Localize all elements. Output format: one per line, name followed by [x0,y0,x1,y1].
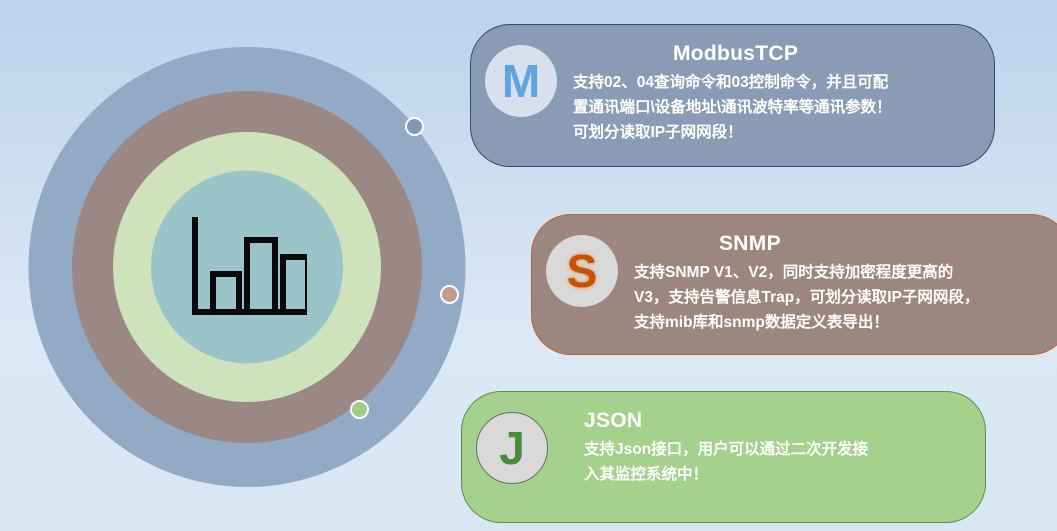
json-marker [350,400,369,419]
snmp-desc-line-3: 支持mib库和snmp数据定义表导出！ [634,310,979,335]
modbus-desc-line-3: 可划分读取IP子网网段！ [573,120,892,145]
snmp-badge-icon: S [546,235,618,307]
modbus-card-title: ModbusTCP [673,41,892,67]
modbus-marker [405,117,424,136]
modbus-desc-line-2: 置通讯端口\设备地址\通讯波特率等通讯参数！ [573,95,892,120]
snmp-card-title: SNMP [719,231,979,257]
bar-chart-icon [187,212,307,322]
snmp-card-body: SNMP 支持SNMP V1、V2，同时支持加密程度更高的 V3，支持告警信息T… [634,229,979,336]
snmp-card-description: 支持SNMP V1、V2，同时支持加密程度更高的 V3，支持告警信息Trap，可… [634,260,979,335]
card-json[interactable]: J JSON 支持Json接口，用户可以通过二次开发接 入其监控系统中！ [461,391,986,523]
modbus-desc-line-1: 支持02、04查询命令和03控制命令，并且可配 [573,70,892,95]
json-card-body: JSON 支持Json接口，用户可以通过二次开发接 入其监控系统中！ [564,406,868,487]
concentric-rings-hub [28,32,465,502]
json-card-description: 支持Json接口，用户可以通过二次开发接 入其监控系统中！ [584,437,868,487]
card-modbustcp[interactable]: M ModbusTCP 支持02、04查询命令和03控制命令，并且可配 置通讯端… [470,24,995,167]
modbus-badge-icon: M [485,45,557,117]
json-card-title: JSON [584,408,868,434]
json-desc-line-2: 入其监控系统中！ [584,462,868,487]
snmp-marker [440,285,459,304]
json-badge-icon: J [476,412,548,484]
modbus-card-body: ModbusTCP 支持02、04查询命令和03控制命令，并且可配 置通讯端口\… [573,39,892,146]
snmp-desc-line-1: 支持SNMP V1、V2，同时支持加密程度更高的 [634,260,979,285]
json-desc-line-1: 支持Json接口，用户可以通过二次开发接 [584,437,868,462]
modbus-card-description: 支持02、04查询命令和03控制命令，并且可配 置通讯端口\设备地址\通讯波特率… [573,70,892,145]
snmp-desc-line-2: V3，支持告警信息Trap，可划分读取IP子网网段， [634,285,979,310]
card-snmp[interactable]: S SNMP 支持SNMP V1、V2，同时支持加密程度更高的 V3，支持告警信… [531,214,1057,355]
